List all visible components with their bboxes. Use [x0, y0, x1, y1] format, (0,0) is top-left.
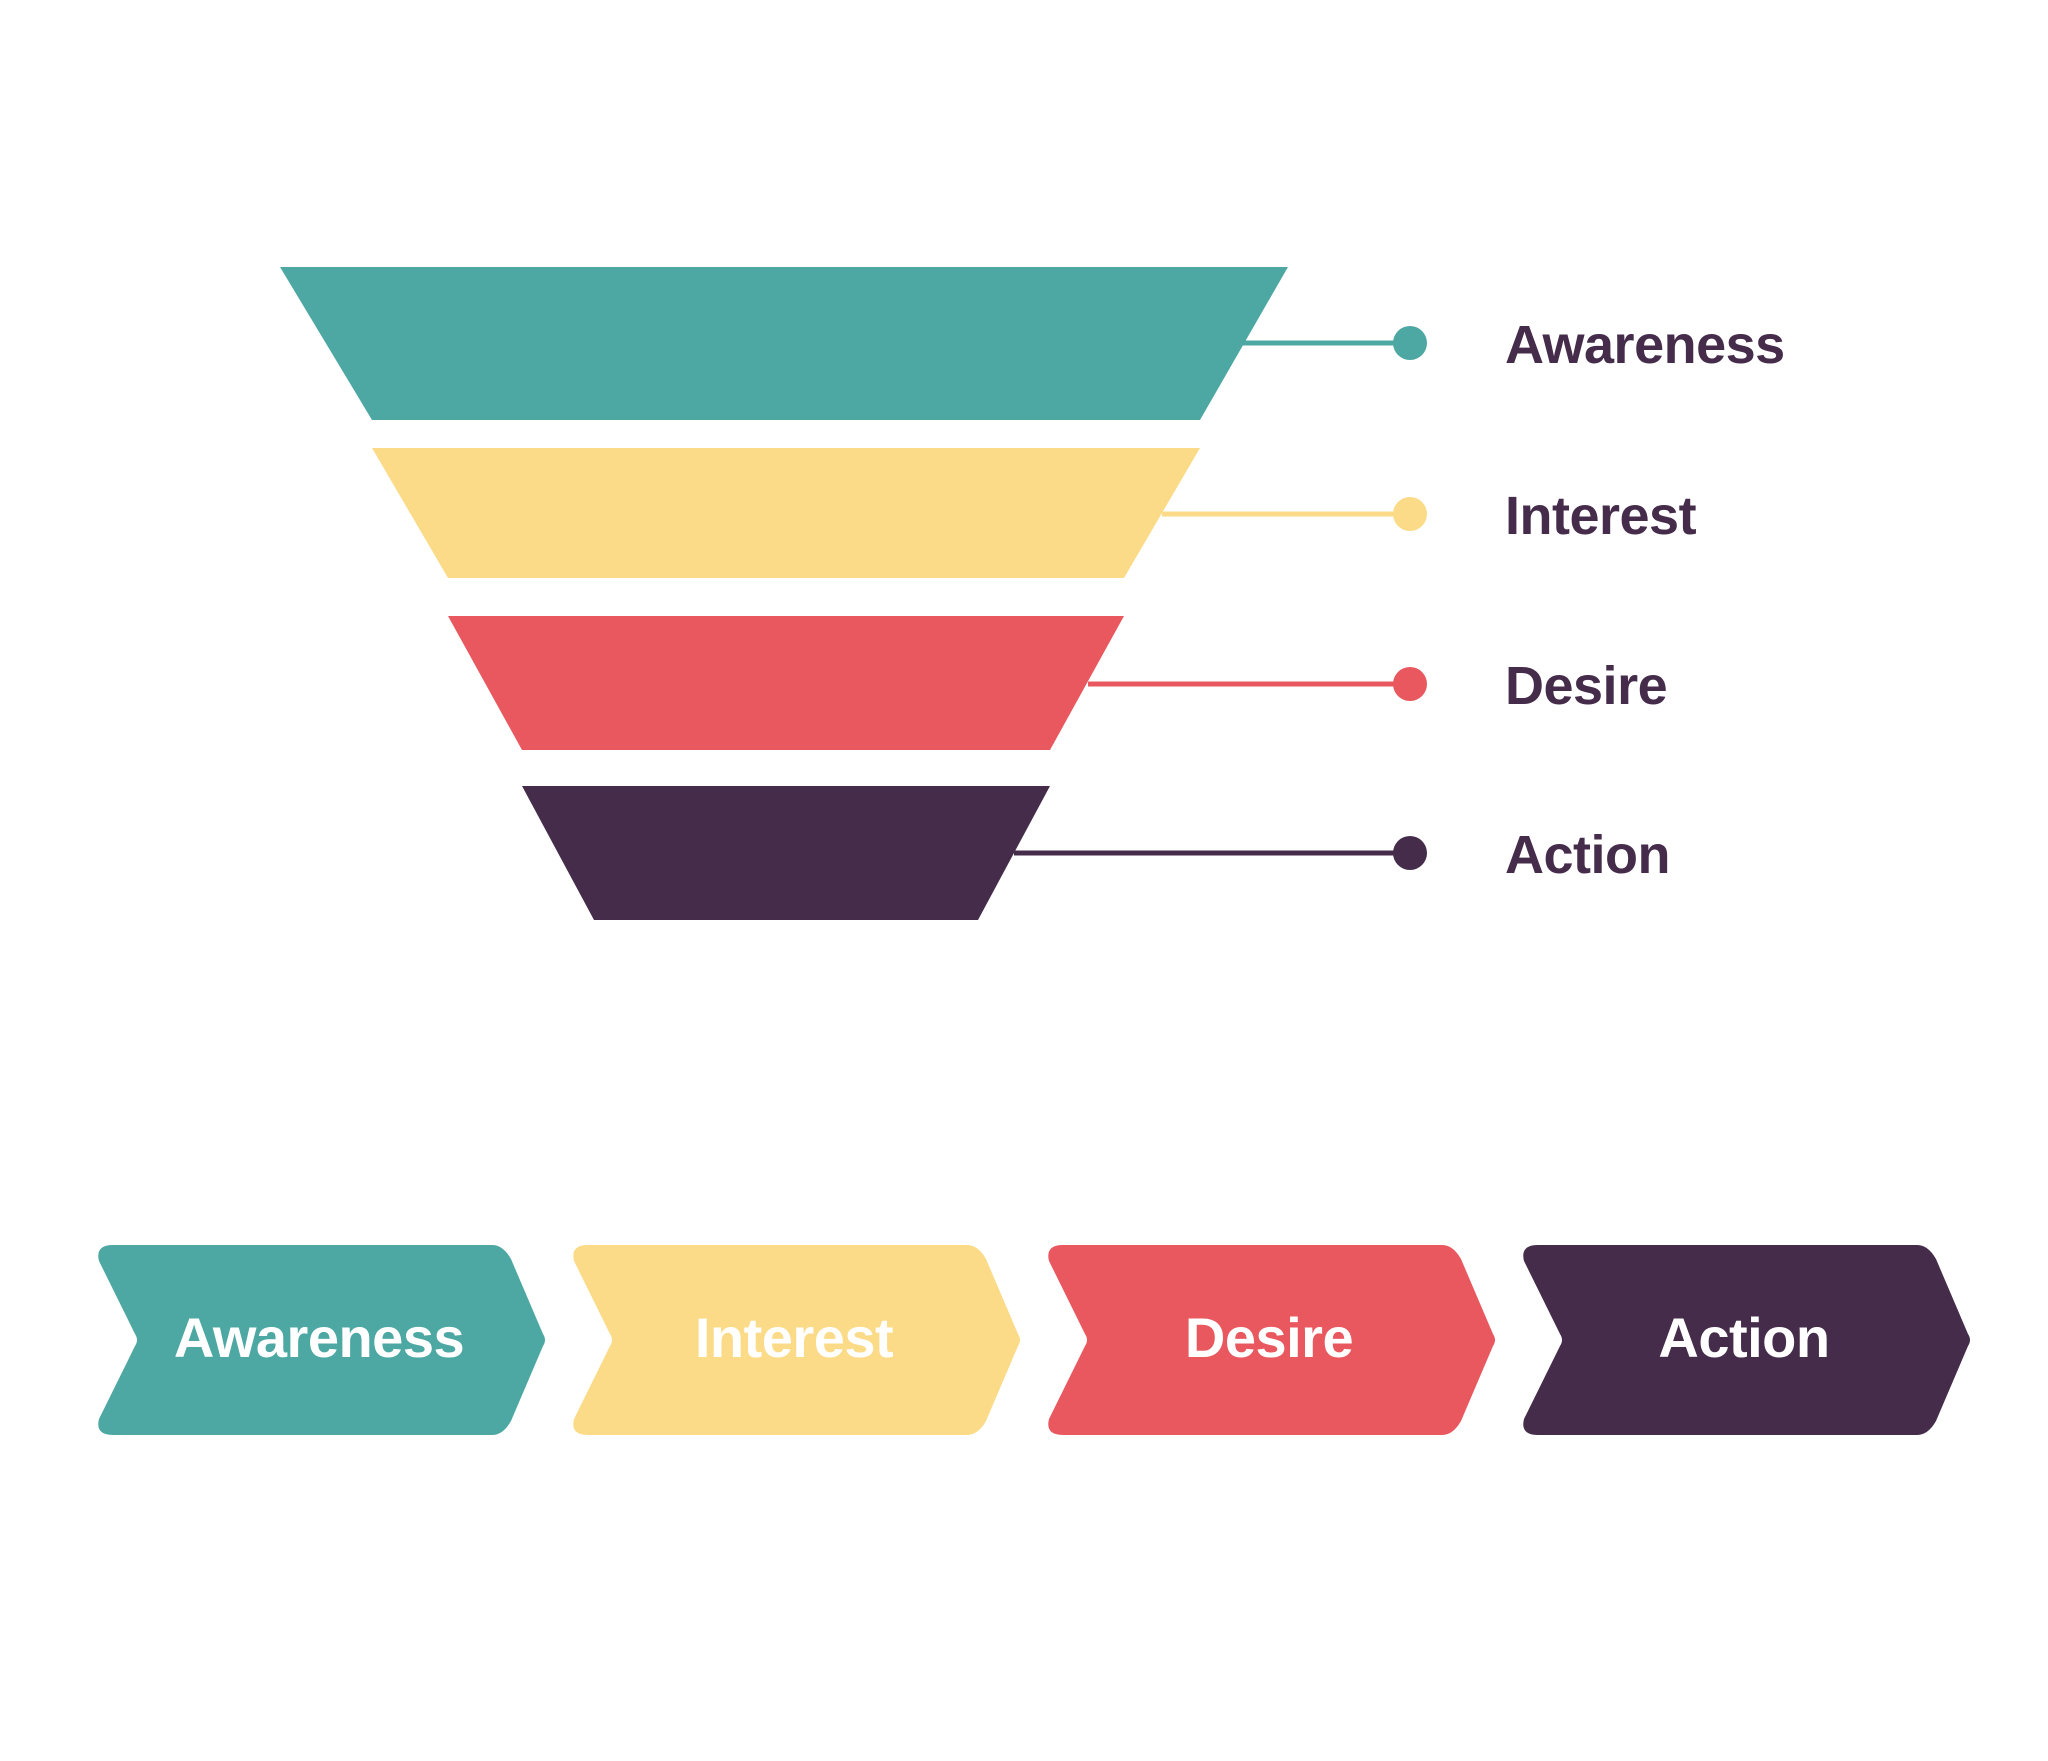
chevron-label-awareness: Awareness — [135, 1310, 503, 1366]
funnel-diagram-canvas: Awareness Interest Desire Action Awarene… — [0, 0, 2048, 1761]
chevron-label-action: Action — [1560, 1310, 1928, 1366]
chevron-label-interest: Interest — [610, 1310, 978, 1366]
chevron-label-desire: Desire — [1085, 1310, 1453, 1366]
chevron-banner-row — [0, 0, 2048, 1761]
